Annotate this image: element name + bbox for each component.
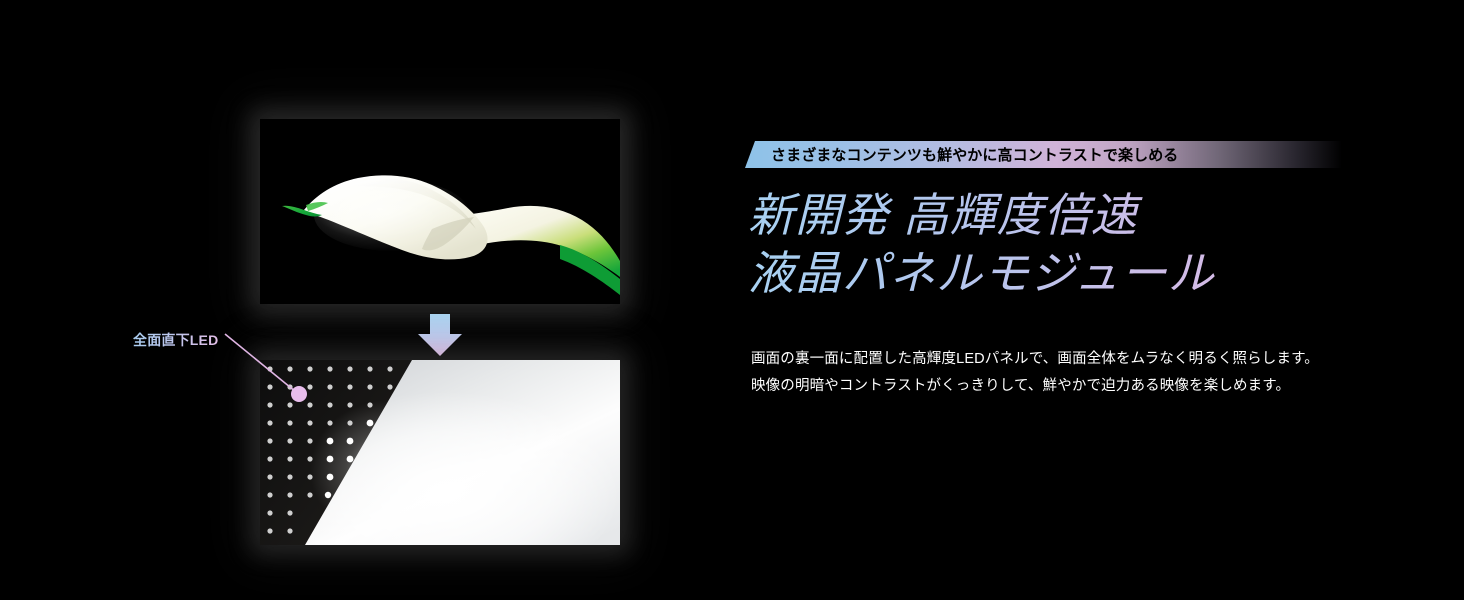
promo-slide: 全面直下LED さまざまなコンテンツも鮮やかに高コントラストで楽しめる 新開発 … [0,0,1464,600]
copy-column: さまざまなコンテンツも鮮やかに高コントラストで楽しめる 新開発 高輝度倍速 液晶… [745,0,1445,600]
page-title: 新開発 高輝度倍速 液晶パネルモジュール [748,186,1388,302]
illustration-column: 全面直下LED [0,0,720,600]
headline-line-2: 液晶パネルモジュール [748,244,1388,302]
calla-lily-photo [260,119,620,304]
flower-photo-frame [260,119,620,304]
eyebrow-text: さまざまなコンテンツも鮮やかに高コントラストで楽しめる [771,144,1178,165]
led-callout-label: 全面直下LED [133,330,218,350]
eyebrow-banner: さまざまなコンテンツも鮮やかに高コントラストで楽しめる [745,141,1342,168]
body-paragraph-2: 映像の明暗やコントラストがくっきりして、鮮やかで迫力ある映像を楽しめます。 [751,373,1336,400]
body-paragraph-1: 画面の裏一面に配置した高輝度LEDパネルで、画面全体をムラなく明るく照らします。 [751,346,1336,373]
arrow-down-icon [414,311,466,359]
body-copy: 画面の裏一面に配置した高輝度LEDパネルで、画面全体をムラなく明るく照らします。… [751,346,1336,400]
headline-line-1: 新開発 高輝度倍速 [748,186,1388,244]
direct-lit-led-backlight-diagram [260,360,620,545]
